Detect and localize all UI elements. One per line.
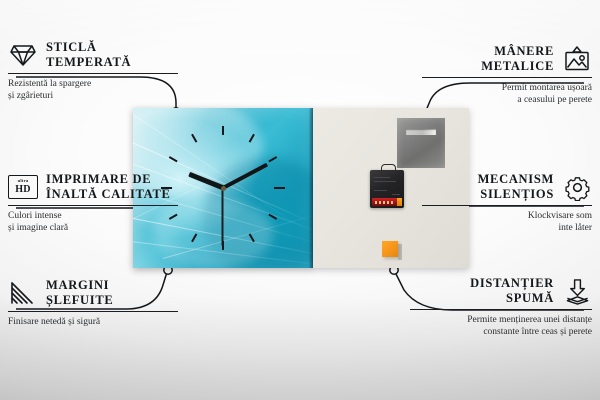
movement-detail [374, 177, 390, 178]
callout-foam-spacer: DISTANȚIER SPUMĂ Permite menținerea unei… [410, 276, 592, 339]
hanger-slot [406, 129, 436, 135]
callout-metal-handles: MÂNERE METALICE Permit montarea ușoară a… [422, 44, 592, 107]
diamond-icon [8, 40, 38, 70]
callout-title: MÂNERE METALICE [481, 44, 554, 74]
callout-divider [8, 73, 178, 74]
callout-divider [8, 205, 178, 206]
callout-polished-edges: MARGINI ȘLEFUITE Finisare netedă și sigu… [8, 278, 178, 328]
callout-title: MECANISM SILENȚIOS [478, 172, 554, 202]
clock-tick [223, 187, 285, 189]
callout-divider [422, 205, 592, 206]
battery-terminal [397, 198, 402, 206]
press-down-foam-icon [562, 276, 592, 306]
callout-title: MARGINI ȘLEFUITE [46, 278, 113, 308]
callout-tempered-glass: STICLĂ TEMPERATĂ Rezistentă la spargere … [8, 40, 178, 103]
callout-subtitle: Permite menținerea unei distanțe constan… [410, 314, 592, 339]
callout-divider [410, 309, 592, 310]
callout-subtitle: Permit montarea ușoară a ceasului pe per… [422, 82, 592, 107]
callout-subtitle: Rezistentă la spargere și zgârieturi [8, 78, 178, 103]
gear-icon [562, 172, 592, 202]
quartz-movement [370, 170, 404, 208]
aa-battery [372, 198, 402, 206]
foam-spacer [382, 241, 398, 257]
infographic-canvas: STICLĂ TEMPERATĂ Rezistentă la spargere … [0, 0, 600, 400]
callout-subtitle: Culori intense și imagine clară [8, 210, 178, 235]
metal-hanger-bracket [397, 118, 445, 168]
foam-spacer-shadow [398, 244, 402, 260]
polished-edge-icon [8, 278, 38, 308]
callout-title: IMPRIMARE DE ÎNALTĂ CALITATE [46, 172, 171, 202]
callout-divider [422, 77, 592, 78]
clock-tick [222, 126, 224, 188]
callout-subtitle: Klockvisare som inte låter [422, 210, 592, 235]
ultra-hd-icon: ultra HD [8, 172, 38, 202]
callout-hq-print: ultra HD IMPRIMARE DE ÎNALTĂ CALITATE Cu… [8, 172, 178, 235]
movement-detail [392, 194, 400, 195]
clock-center-cap [221, 186, 226, 191]
callout-divider [8, 311, 178, 312]
callout-subtitle: Finisare netedă și sigură [8, 316, 178, 328]
battery-label [375, 201, 394, 204]
ultra-hd-main-text: HD [15, 185, 30, 195]
movement-detail [374, 181, 396, 182]
callout-title: STICLĂ TEMPERATĂ [46, 40, 131, 70]
movement-detail [374, 190, 387, 191]
movement-hook [381, 164, 396, 173]
callout-title: DISTANȚIER SPUMĂ [470, 276, 554, 306]
hanging-frame-icon [562, 44, 592, 74]
callout-silent-mechanism: MECANISM SILENȚIOS Klockvisare som inte … [422, 172, 592, 235]
